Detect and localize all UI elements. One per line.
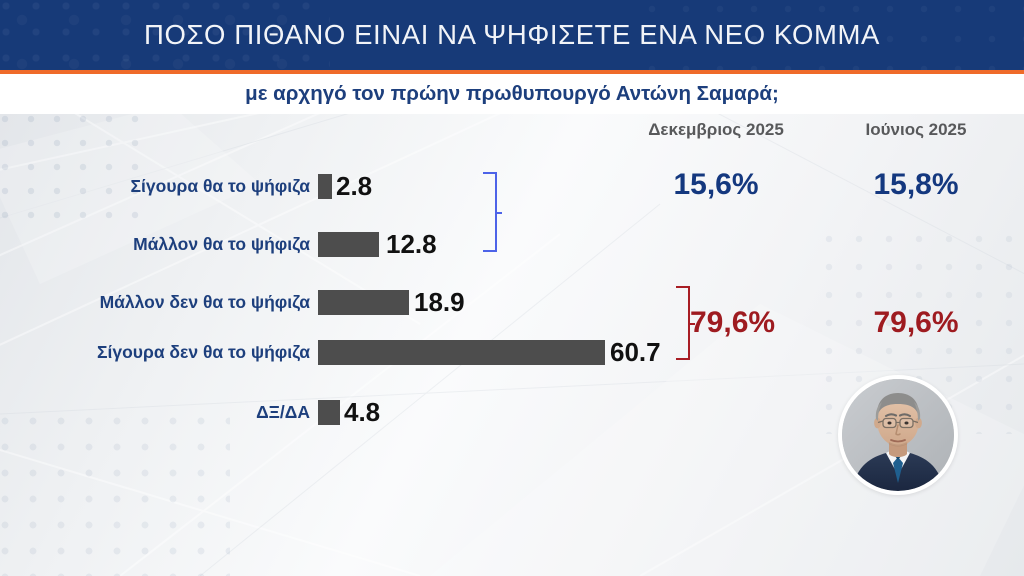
bar-value-label: 18.9	[414, 282, 465, 322]
bracket-nub	[495, 212, 502, 214]
portrait-illustration	[842, 379, 954, 491]
bar-value-label: 12.8	[386, 224, 437, 264]
aggregate-likely-yes-june: 15,8%	[826, 168, 1006, 202]
bar-segment	[318, 232, 379, 257]
column-header-june: Ιούνιος 2025	[826, 120, 1006, 140]
bar-segment	[318, 174, 332, 199]
table-row: Μάλλον θα το ψήφιζα 12.8	[0, 224, 1024, 264]
bar-category-label: Μάλλον δεν θα το ψήφιζα	[100, 282, 310, 322]
aggregate-likely-no-june: 79,6%	[826, 306, 1006, 340]
aggregate-likely-no-december: 79,6%	[690, 306, 810, 340]
bar-segment	[318, 290, 409, 315]
poll-graphic: ΠΟΣΟ ΠΙΘΑΝΟ ΕΙΝΑΙ ΝΑ ΨΗΦΙΣΕΤΕ ΕΝΑ ΝΕΟ ΚΟ…	[0, 0, 1024, 576]
bar-segment	[318, 400, 340, 425]
bar-value-label: 4.8	[344, 392, 380, 432]
aggregate-likely-yes-december: 15,6%	[616, 168, 816, 202]
dot-texture-bottom-left	[0, 416, 230, 576]
subtitle-strip: με αρχηγό τον πρώην πρωθυπουργό Αντώνη Σ…	[0, 74, 1024, 114]
bar-category-label: Σίγουρα δεν θα το ψήφιζα	[97, 332, 310, 372]
bracket-likely-yes	[483, 172, 497, 252]
page-subtitle: με αρχηγό τον πρώην πρωθυπουργό Αντώνη Σ…	[0, 74, 1024, 114]
bracket-likely-no	[676, 286, 690, 360]
avatar	[842, 379, 954, 491]
bar-category-label: ΔΞ/ΔΑ	[256, 392, 310, 432]
column-header-december: Δεκεμβριος 2025	[616, 120, 816, 140]
header-band: ΠΟΣΟ ΠΙΘΑΝΟ ΕΙΝΑΙ ΝΑ ΨΗΦΙΣΕΤΕ ΕΝΑ ΝΕΟ ΚΟ…	[0, 0, 1024, 70]
bar-value-label: 2.8	[336, 166, 372, 206]
portrait-frame	[838, 375, 958, 495]
bar-value-label: 60.7	[610, 332, 661, 372]
bar-segment	[318, 340, 605, 365]
bar-category-label: Σίγουρα θα το ψήφιζα	[131, 166, 310, 206]
bar-category-label: Μάλλον θα το ψήφιζα	[133, 224, 310, 264]
page-title: ΠΟΣΟ ΠΙΘΑΝΟ ΕΙΝΑΙ ΝΑ ΨΗΦΙΣΕΤΕ ΕΝΑ ΝΕΟ ΚΟ…	[0, 0, 1024, 70]
